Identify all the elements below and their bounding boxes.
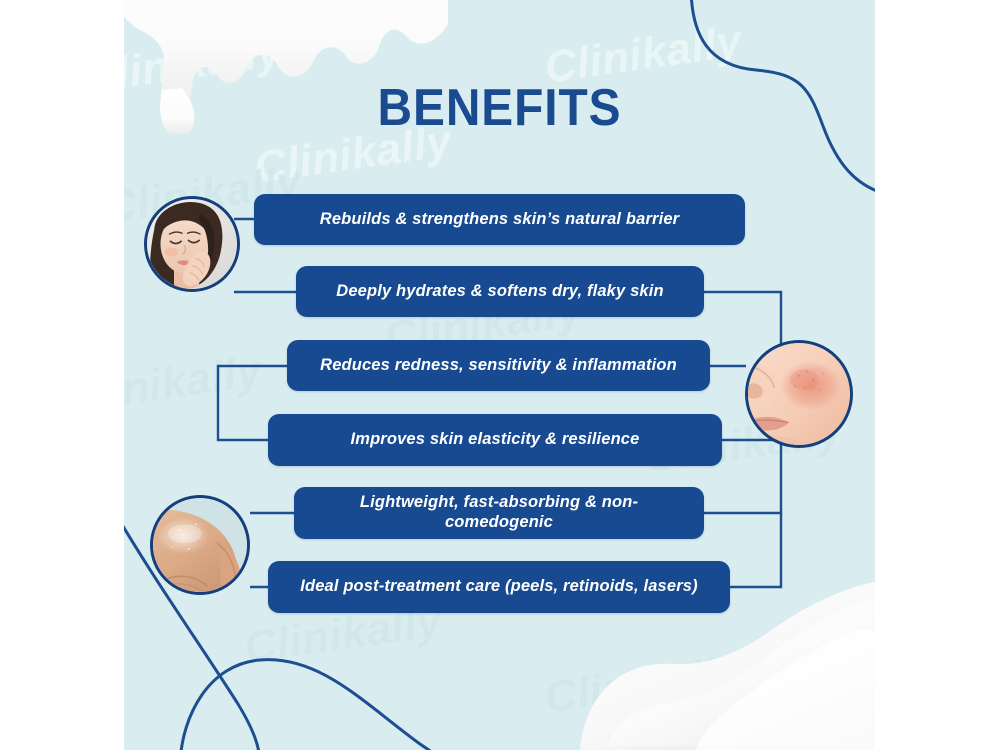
benefit-pill-label: Reduces redness, sensitivity & inflammat… — [320, 356, 677, 376]
photo-cheek-redness-image — [748, 343, 850, 445]
photo-smooth-skin — [150, 495, 250, 595]
content-panel: Clinikally Clinikally Clinikally Clinika… — [124, 0, 875, 750]
benefit-pill-label: Deeply hydrates & softens dry, flaky ski… — [336, 282, 663, 302]
benefit-pill-label: Rebuilds & strengthens skin’s natural ba… — [320, 210, 679, 230]
benefit-pill[interactable]: Ideal post-treatment care (peels, retino… — [268, 561, 730, 613]
photo-smooth-skin-image — [153, 498, 247, 592]
benefit-pill[interactable]: Improves skin elasticity & resilience — [268, 414, 722, 466]
benefit-pill-label: Ideal post-treatment care (peels, retino… — [300, 577, 698, 597]
benefit-pill[interactable]: Reduces redness, sensitivity & inflammat… — [287, 340, 710, 391]
photo-woman-touching-face-image — [147, 199, 237, 289]
watermark-text: Clinikally — [541, 646, 744, 723]
benefit-pill-label: Lightweight, fast-absorbing & non-comedo… — [320, 493, 678, 533]
watermark-text: Clinikally — [124, 346, 265, 423]
photo-woman-touching-face — [144, 196, 240, 292]
benefit-pill[interactable]: Lightweight, fast-absorbing & non-comedo… — [294, 487, 704, 539]
benefit-pill-label: Improves skin elasticity & resilience — [351, 430, 640, 450]
benefit-pill[interactable]: Rebuilds & strengthens skin’s natural ba… — [254, 194, 745, 245]
benefit-pill[interactable]: Deeply hydrates & softens dry, flaky ski… — [296, 266, 704, 317]
poster-canvas: Clinikally Clinikally Clinikally Clinika… — [0, 0, 1000, 750]
photo-cheek-redness — [745, 340, 853, 448]
page-title: BENEFITS — [154, 82, 845, 134]
